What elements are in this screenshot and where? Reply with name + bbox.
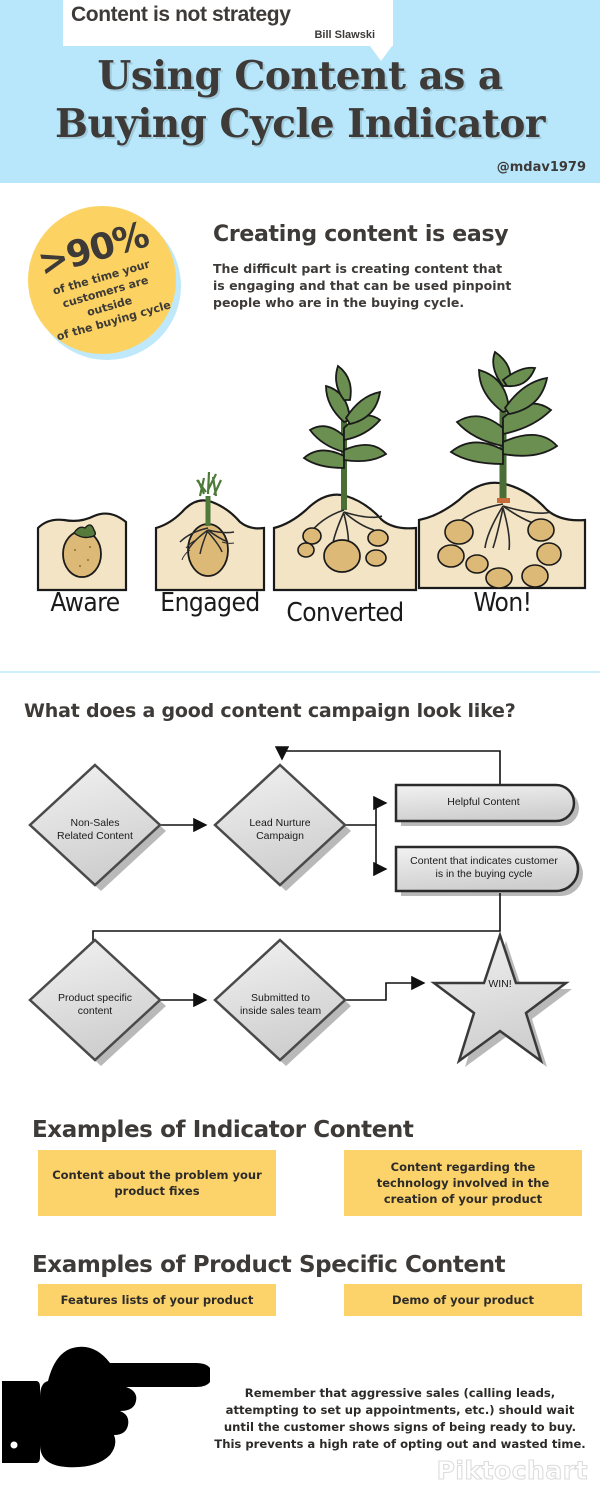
potato-plant-icon [270,360,420,605]
section-divider [0,671,600,673]
example-indicator-box-2: Content regarding the technology involve… [344,1150,582,1216]
examples-indicator-heading: Examples of Indicator Content [32,1117,414,1143]
intro-body-text: The difficult part is creating content t… [213,260,513,311]
stage-label-engaged: Engaged [150,588,270,618]
flow-node-win-star [434,935,566,1061]
flowchart: Non-Sales Related Content Lead Nurture C… [0,735,600,1080]
example-indicator-box-1: Content about the problem your product f… [38,1150,276,1216]
flow-node-lead-nurture [215,765,345,885]
potato-sprout-icon [150,450,270,605]
potato-harvest-icon [415,350,590,605]
flow-node-non-sales [30,765,160,885]
flow-node-submitted [215,940,345,1060]
stage-won: Won! [415,350,590,610]
flow-node-product-specific [30,940,160,1060]
flowchart-svg [0,735,600,1080]
stage-label-converted: Converted [270,598,420,628]
footer-note: Remember that aggressive sales (calling … [210,1385,590,1453]
pointing-hand-icon [0,1335,210,1470]
page-title-line-1: Using Content as a [0,52,600,100]
flow-node-indicates-buying [396,847,578,891]
buying-cycle-stages: Aware Engaged [0,350,600,650]
quote-author: Bill Slawski [71,28,385,42]
stage-converted: Converted [270,360,420,610]
quote-bubble: Content is not strategy Bill Slawski [63,0,393,46]
stage-label-aware: Aware [30,588,140,618]
page-title-line-2: Buying Cycle Indicator [0,100,600,148]
flowchart-heading: What does a good content campaign look l… [24,700,516,722]
stage-label-won: Won! [415,588,590,618]
statistic-badge: >90% of the time your customers are outs… [28,206,176,354]
example-product-box-2: Demo of your product [344,1284,582,1316]
stage-engaged: Engaged [150,450,270,610]
page-title: Using Content as a Buying Cycle Indicato… [0,52,600,148]
stage-aware: Aware [30,490,140,610]
quote-text: Content is not strategy [71,2,385,28]
intro-heading: Creating content is easy [213,222,508,247]
header-banner: Content is not strategy Bill Slawski Usi… [0,0,600,183]
example-product-box-1: Features lists of your product [38,1284,276,1316]
examples-product-heading: Examples of Product Specific Content [32,1252,505,1278]
author-handle: @mdav1979 [497,160,586,175]
piktochart-watermark: Piktochart [437,1456,588,1485]
flow-node-helpful-content [396,785,574,821]
